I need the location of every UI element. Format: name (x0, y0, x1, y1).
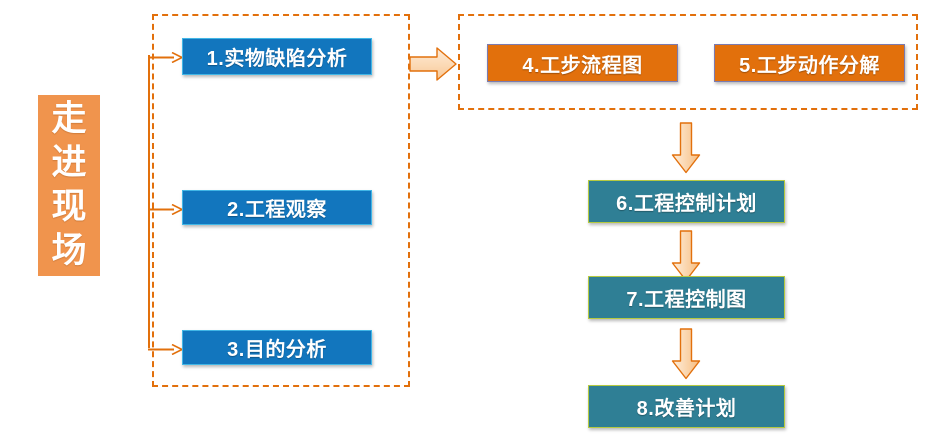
connector-arrow-left-to-right-group (409, 46, 457, 82)
process-node-8-label: 8.改善计划 (637, 392, 737, 421)
process-node-3[interactable]: 3.目的分析 (182, 330, 372, 365)
connector-branch-arrow-3 (148, 342, 184, 353)
connector-arrow-node-6-to-node-7 (671, 230, 701, 282)
connector-arrow-to-node-6 (671, 122, 701, 174)
section-title-char-1: 走 (38, 97, 100, 141)
connector-branch-arrow-2 (148, 202, 184, 213)
section-title-block: 走 进 现 场 (38, 95, 100, 276)
block-arrow-down-icon (671, 328, 701, 380)
process-node-2[interactable]: 2.工程观察 (182, 190, 372, 225)
diagram-canvas: 走 进 现 场 1.实物缺陷分析 2.工程观察 3.目的分析 (0, 0, 943, 447)
section-title-char-4: 场 (38, 229, 100, 273)
section-title-char-2: 进 (38, 141, 100, 185)
process-node-7-label: 7.工程控制图 (626, 283, 746, 312)
block-arrow-down-icon (671, 230, 701, 282)
process-node-5-label: 5.工步动作分解 (739, 49, 880, 78)
process-node-8[interactable]: 8.改善计划 (588, 385, 785, 428)
connector-arrow-node-7-to-node-8 (671, 328, 701, 380)
process-node-7[interactable]: 7.工程控制图 (588, 276, 785, 319)
arrow-right-icon (148, 52, 184, 63)
section-title-char-3: 现 (38, 185, 100, 229)
process-node-4-label: 4.工步流程图 (522, 49, 642, 78)
block-arrow-right-icon (409, 46, 457, 82)
process-node-4[interactable]: 4.工步流程图 (487, 44, 678, 82)
connector-branch-arrow-1 (148, 50, 184, 61)
arrow-right-icon (148, 204, 184, 215)
process-node-5[interactable]: 5.工步动作分解 (714, 44, 905, 82)
arrow-right-icon (148, 344, 184, 355)
process-node-3-label: 3.目的分析 (227, 333, 327, 362)
process-node-2-label: 2.工程观察 (227, 193, 327, 222)
process-node-1-label: 1.实物缺陷分析 (207, 42, 348, 71)
block-arrow-down-icon (671, 122, 701, 174)
process-node-6[interactable]: 6.工程控制计划 (588, 180, 785, 223)
process-node-6-label: 6.工程控制计划 (616, 187, 757, 216)
process-node-1[interactable]: 1.实物缺陷分析 (182, 38, 372, 75)
